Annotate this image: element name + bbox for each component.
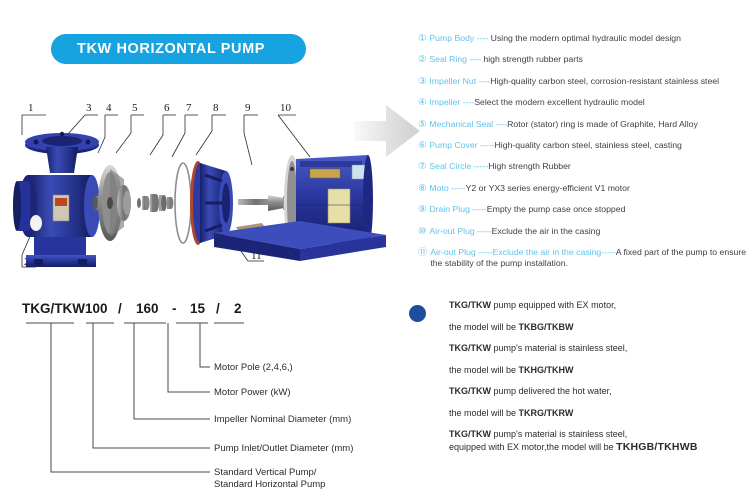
legend-part-name: Impeller Nut bbox=[429, 76, 476, 86]
legend-number: ⑩ bbox=[418, 226, 426, 237]
legend-description: Exclude the air in the casing----- bbox=[493, 247, 616, 257]
model-leader-lines bbox=[51, 323, 210, 472]
legend-part-name: Air-out Plug bbox=[429, 226, 474, 236]
legend-item: ⑧ Moto -----Y2 or YX3 series energy-effi… bbox=[418, 183, 756, 194]
variant-code: TKBG/TKBW bbox=[519, 322, 574, 332]
legend-part-name: Pump Body bbox=[429, 33, 474, 43]
svg-text:5: 5 bbox=[132, 102, 138, 114]
legend-dash: ---- bbox=[474, 33, 490, 43]
variant-line: the model will be TKBG/TKBW bbox=[449, 322, 756, 333]
legend-number: ⑦ bbox=[418, 161, 426, 172]
legend-number: ⑧ bbox=[418, 183, 426, 194]
legend-dash: ----- bbox=[476, 247, 493, 257]
model-segment: / bbox=[216, 301, 220, 316]
legend-description: Using the modern optimal hydraulic model… bbox=[491, 33, 681, 43]
legend-description: High-quality carbon steel, stainless ste… bbox=[495, 140, 682, 150]
legend-number: ③ bbox=[418, 76, 426, 87]
model-label: Impeller Nominal Diameter (mm) bbox=[214, 414, 351, 425]
svg-text:6: 6 bbox=[164, 102, 170, 114]
legend-description: high strength rubber parts bbox=[483, 54, 582, 64]
model-label: Standard Horizontal Pump bbox=[214, 479, 325, 490]
model-segment: 2 bbox=[234, 301, 242, 316]
legend-description: Rotor (stator) ring is made of Graphite,… bbox=[507, 119, 698, 129]
variant-text: the model will be bbox=[449, 322, 519, 332]
variant-prefix: TKG/TKW bbox=[449, 429, 491, 439]
legend-item: ② Seal Ring ---- high strength rubber pa… bbox=[418, 54, 756, 65]
variant-line: TKG/TKW pump equipped with EX motor, bbox=[449, 300, 756, 311]
model-label: Motor Pole (2,4,6,) bbox=[214, 362, 293, 373]
legend-description: High strength Rubber bbox=[488, 161, 571, 171]
legend-part-name: Seal Ring bbox=[429, 54, 467, 64]
legend-number: ④ bbox=[418, 97, 426, 108]
variant-text: equipped with EX motor,the model will be bbox=[449, 442, 616, 452]
legend-item: ⑪ Air-out Plug -----Exclude the air in t… bbox=[418, 247, 756, 269]
bullet-dot-icon bbox=[409, 305, 426, 322]
legend-number: ⑨ bbox=[418, 204, 426, 215]
legend-part-name: Impeller bbox=[429, 97, 460, 107]
legend-part-name: Pump Cover bbox=[429, 140, 477, 150]
legend-dash: ---- bbox=[467, 54, 483, 64]
svg-text:9: 9 bbox=[245, 102, 251, 114]
variant-prefix: TKG/TKW bbox=[449, 343, 491, 353]
legend-item: ⑨ Drain Plug -----Empty the pump case on… bbox=[418, 204, 756, 215]
legend-description: High-quality carbon steel, corrosion-res… bbox=[490, 76, 719, 86]
legend-item: ④ Impeller ----Select the modern excelle… bbox=[418, 97, 756, 108]
legend-dash: ----- bbox=[478, 140, 495, 150]
legend-item: ⑦ Seal Circle -----High strength Rubber bbox=[418, 161, 756, 172]
variant-prefix: TKG/TKW bbox=[449, 386, 491, 396]
legend-number: ① bbox=[418, 33, 426, 44]
legend-number: ② bbox=[418, 54, 426, 65]
svg-text:10: 10 bbox=[280, 102, 292, 114]
svg-text:7: 7 bbox=[186, 102, 192, 114]
model-segment: - bbox=[172, 301, 177, 316]
legend-dash: ---- bbox=[493, 119, 507, 129]
legend-part-name: Air-out Plug bbox=[430, 247, 475, 257]
variant-code: TKHG/TKHW bbox=[519, 365, 574, 375]
variant-code: TKRG/TKRW bbox=[519, 408, 574, 418]
variant-prefix: TKG/TKW bbox=[449, 300, 491, 310]
model-label: Motor Power (kW) bbox=[214, 387, 291, 398]
variant-line: the model will be TKHG/TKHW bbox=[449, 365, 756, 376]
svg-text:8: 8 bbox=[213, 102, 219, 114]
legend-dash: ----- bbox=[470, 204, 487, 214]
legend-dash: ----- bbox=[449, 183, 466, 193]
variant-line: equipped with EX motor,the model will be… bbox=[449, 442, 756, 453]
legend-part-name: Mechanical Seal bbox=[429, 119, 493, 129]
page-title: TKW HORIZONTAL PUMP bbox=[77, 41, 265, 57]
page-title-banner: TKW HORIZONTAL PUMP bbox=[51, 34, 306, 64]
model-segment: 160 bbox=[136, 301, 159, 316]
legend-item: ⑤ Mechanical Seal ----Rotor (stator) rin… bbox=[418, 119, 756, 130]
variant-text: the model will be bbox=[449, 365, 519, 375]
variant-text: pump equipped with EX motor, bbox=[491, 300, 616, 310]
legend-item: ⑥ Pump Cover -----High-quality carbon st… bbox=[418, 140, 756, 151]
model-segment: 100 bbox=[85, 301, 108, 316]
legend-item: ① Pump Body ---- Using the modern optima… bbox=[418, 33, 756, 44]
variant-naming-block: TKG/TKW pump equipped with EX motor, the… bbox=[404, 300, 756, 464]
legend-dash: ----- bbox=[475, 226, 492, 236]
svg-text:4: 4 bbox=[106, 102, 112, 114]
legend-description: Empty the pump case once stopped bbox=[487, 204, 626, 214]
variant-text: pump delivered the hot water, bbox=[491, 386, 612, 396]
legend-description: Exclude the air in the casing bbox=[492, 226, 601, 236]
flow-arrow-icon bbox=[352, 95, 424, 167]
variant-text: pump's material is stainless steel, bbox=[491, 429, 627, 439]
legend-item: ⑩ Air-out Plug -----Exclude the air in t… bbox=[418, 226, 756, 237]
legend-number: ⑥ bbox=[418, 140, 426, 151]
legend-number: ⑤ bbox=[418, 119, 426, 130]
variant-text: pump's material is stainless steel, bbox=[491, 343, 627, 353]
legend-part-name: Drain Plug bbox=[429, 204, 470, 214]
legend-description: Select the modern excellent hydraulic mo… bbox=[474, 97, 644, 107]
exploded-pump-diagram: 1 3 4 5 6 7 8 9 10 2 bbox=[0, 95, 395, 290]
svg-text:3: 3 bbox=[86, 102, 92, 114]
legend-part-name: Seal Circle bbox=[429, 161, 471, 171]
variant-line: TKG/TKW pump delivered the hot water, bbox=[449, 386, 756, 397]
legend-description: Y2 or YX3 series energy-efficient V1 mot… bbox=[466, 183, 630, 193]
model-segment: / bbox=[118, 301, 122, 316]
parts-legend-list: ① Pump Body ---- Using the modern optima… bbox=[418, 33, 756, 279]
model-label: Pump Inlet/Outlet Diameter (mm) bbox=[214, 443, 353, 454]
svg-text:1: 1 bbox=[28, 102, 34, 114]
variant-line: TKG/TKW pump's material is stainless ste… bbox=[449, 429, 756, 440]
model-segment: 15 bbox=[190, 301, 206, 316]
legend-dash: ---- bbox=[460, 97, 474, 107]
model-code-breakdown: TKG/TKW 100 / 160 - 15 / 2 Motor Pole (2… bbox=[0, 295, 400, 500]
model-segment: TKG/TKW bbox=[22, 301, 85, 316]
variant-text: the model will be bbox=[449, 408, 519, 418]
legend-item: ③ Impeller Nut ----High-quality carbon s… bbox=[418, 76, 756, 87]
variant-line: the model will be TKRG/TKRW bbox=[449, 408, 756, 419]
legend-part-name: Moto bbox=[429, 183, 448, 193]
variant-code: TKHGB/TKHWB bbox=[616, 441, 698, 453]
model-label: Standard Vertical Pump/ bbox=[214, 467, 317, 478]
legend-dash: ----- bbox=[471, 161, 488, 171]
legend-number: ⑪ bbox=[418, 247, 427, 258]
variant-line: TKG/TKW pump's material is stainless ste… bbox=[449, 343, 756, 354]
legend-dash: ---- bbox=[476, 76, 490, 86]
